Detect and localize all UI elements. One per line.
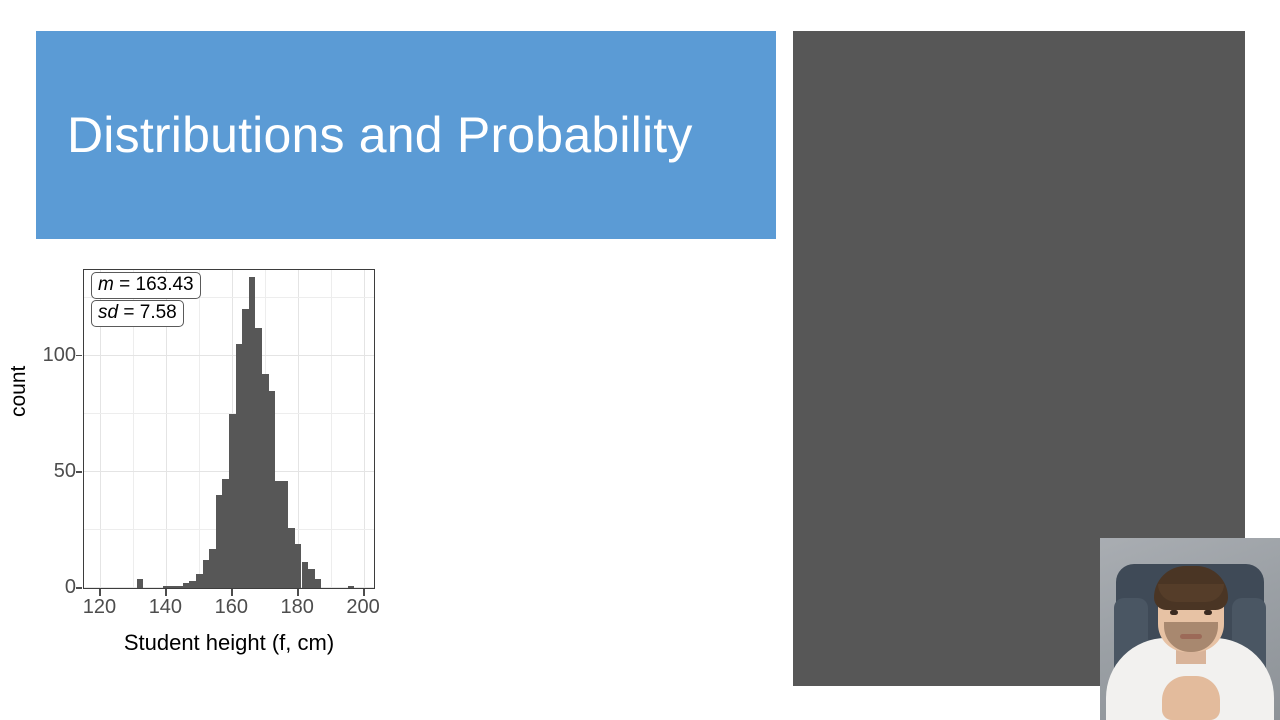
x-tick-label: 180 [281, 597, 314, 617]
presenter-webcam-overlay[interactable] [1100, 538, 1280, 720]
histogram-bar [255, 328, 262, 588]
histogram-bar [249, 277, 256, 588]
histogram-bar [348, 586, 355, 588]
annotation-mean-operator: = [119, 274, 130, 295]
histogram-bar [203, 560, 210, 588]
x-tick-mark [363, 589, 365, 596]
x-axis-ticks: 120140160180200 [83, 589, 375, 625]
annotation-sd-symbol: sd [98, 302, 118, 323]
y-tick-label: 0 [30, 577, 76, 597]
x-tick-mark [297, 589, 299, 596]
histogram-bar [295, 544, 302, 588]
x-tick-mark [99, 589, 101, 596]
histogram-bar [163, 586, 170, 588]
histogram-bar [222, 479, 229, 588]
histogram-bar [275, 481, 282, 588]
annotation-sd-operator: = [123, 302, 134, 323]
gridline-vertical [298, 270, 299, 588]
y-tick-mark [76, 471, 82, 473]
histogram-bar [209, 549, 216, 588]
y-axis-ticks: 050100 [28, 258, 76, 598]
histogram-bar [236, 344, 243, 588]
histogram-bar [242, 309, 249, 588]
histogram-bar [229, 414, 236, 588]
x-axis-title: Student height (f, cm) [83, 630, 375, 656]
y-tick-mark [76, 355, 82, 357]
histogram-bar [183, 583, 190, 588]
gridline-horizontal [84, 355, 374, 356]
annotation-sd-value: 7.58 [140, 302, 177, 323]
gridline-vertical [199, 270, 200, 588]
histogram-bar [269, 391, 276, 588]
x-tick-mark [231, 589, 233, 596]
y-tick-label: 50 [30, 461, 76, 481]
gridline-vertical [364, 270, 365, 588]
histogram-bar [308, 569, 315, 588]
x-tick-label: 140 [149, 597, 182, 617]
gridline-vertical [331, 270, 332, 588]
histogram-bar [288, 528, 295, 588]
histogram-bar [262, 374, 269, 588]
presenter-fringe [1158, 584, 1224, 602]
presenter-eye-right [1204, 610, 1212, 615]
annotation-mean: m = 163.43 [91, 272, 201, 299]
y-tick-mark [76, 587, 82, 589]
annotation-sd: sd = 7.58 [91, 300, 184, 327]
histogram-bar [315, 579, 322, 588]
histogram-bar [189, 581, 196, 588]
histogram-bar [137, 579, 144, 588]
x-tick-label: 120 [83, 597, 116, 617]
slide-title-banner: Distributions and Probability [36, 31, 776, 239]
y-tick-label: 100 [30, 345, 76, 365]
presenter-hands [1162, 676, 1220, 720]
page-title: Distributions and Probability [36, 108, 693, 163]
annotation-mean-symbol: m [98, 274, 114, 295]
histogram-bar [170, 586, 177, 588]
histogram-bar [216, 495, 223, 588]
presenter-mouth [1180, 634, 1202, 639]
x-tick-label: 160 [215, 597, 248, 617]
x-tick-mark [165, 589, 167, 596]
annotation-mean-value: 163.43 [136, 274, 194, 295]
presenter-eye-left [1170, 610, 1178, 615]
histogram-bar [282, 481, 289, 588]
histogram-bar [302, 562, 309, 588]
histogram-bar [196, 574, 203, 588]
x-tick-label: 200 [346, 597, 379, 617]
histogram-bar [176, 586, 183, 588]
